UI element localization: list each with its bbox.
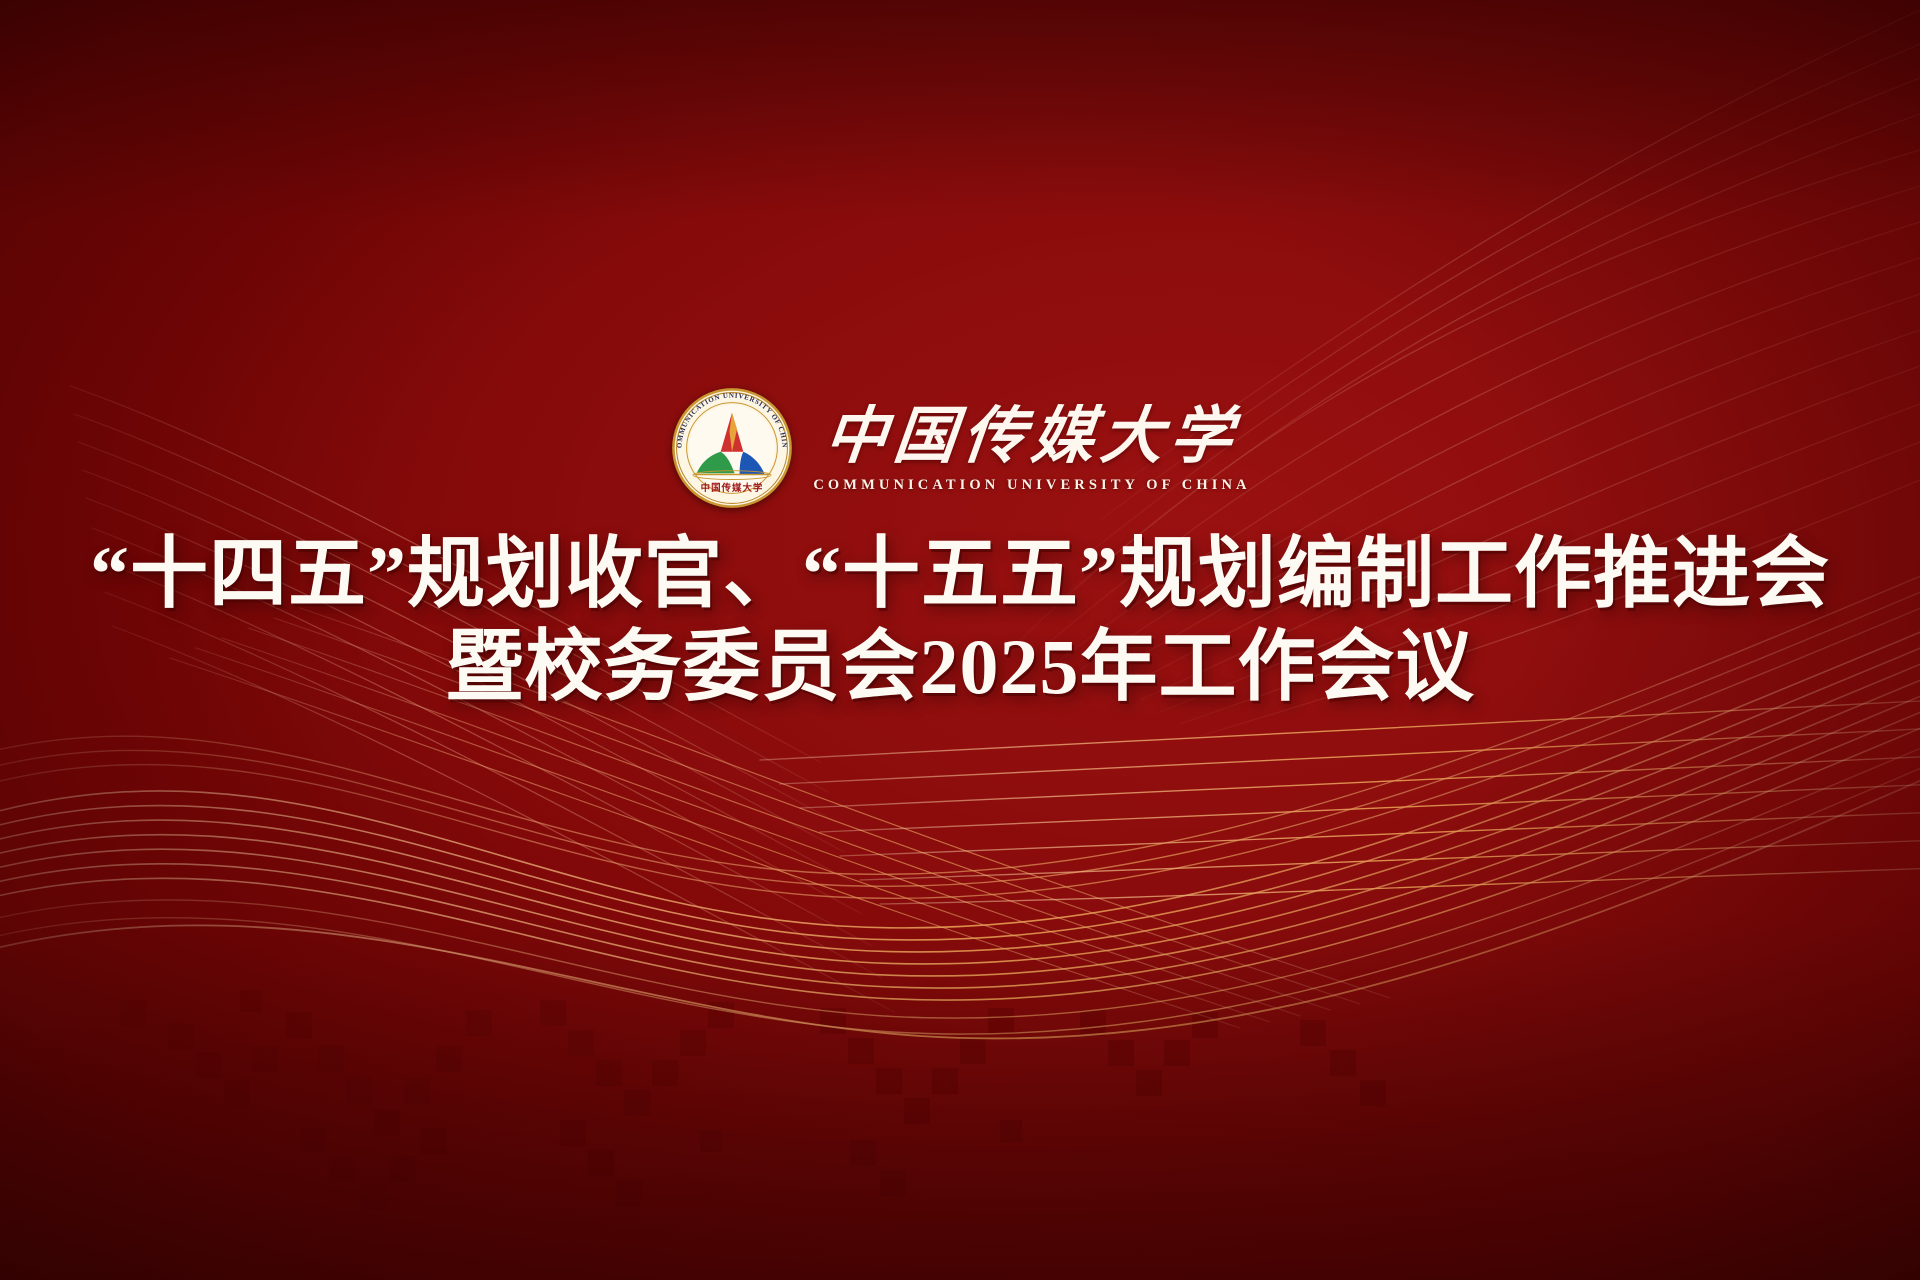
university-emblem-icon: COMMUNICATION UNIVERSITY OF CHINA 中国传媒大学 [669, 385, 795, 511]
university-logo-lockup: COMMUNICATION UNIVERSITY OF CHINA 中国传媒大学… [0, 378, 1920, 518]
title-line-1: “十四五”规划收官、“十五五”规划编制工作推进会 [0, 530, 1920, 619]
wordmark-chinese: 中国传媒大学 [822, 406, 1243, 468]
svg-text:中国传媒大学: 中国传媒大学 [701, 482, 764, 494]
wordmark-english: COMMUNICATION UNIVERSITY OF CHINA [813, 477, 1250, 494]
conference-backdrop: COMMUNICATION UNIVERSITY OF CHINA 中国传媒大学… [0, 0, 1920, 1280]
title-line-2: 暨校务委员会2025年工作会议 [0, 623, 1920, 712]
conference-title: “十四五”规划收官、“十五五”规划编制工作推进会 暨校务委员会2025年工作会议 [0, 530, 1920, 712]
university-wordmark: 中国传媒大学 COMMUNICATION UNIVERSITY OF CHINA [813, 402, 1250, 494]
